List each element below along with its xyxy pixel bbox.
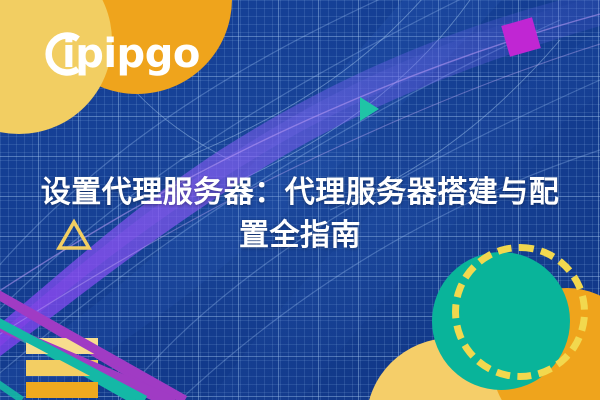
page-title: 设置代理服务器：代理服务器搭建与配置全指南 (0, 172, 600, 257)
banner: ipipgo 设置代理服务器：代理服务器搭建与配置全指南 (0, 0, 600, 400)
logo[interactable]: ipipgo (38, 26, 200, 82)
diagonal-strokes-overlay (0, 280, 200, 400)
circle-dashed-bottom-right (452, 244, 588, 380)
triangle-teal-center (360, 97, 379, 121)
logo-wordmark: ipipgo (62, 34, 200, 74)
